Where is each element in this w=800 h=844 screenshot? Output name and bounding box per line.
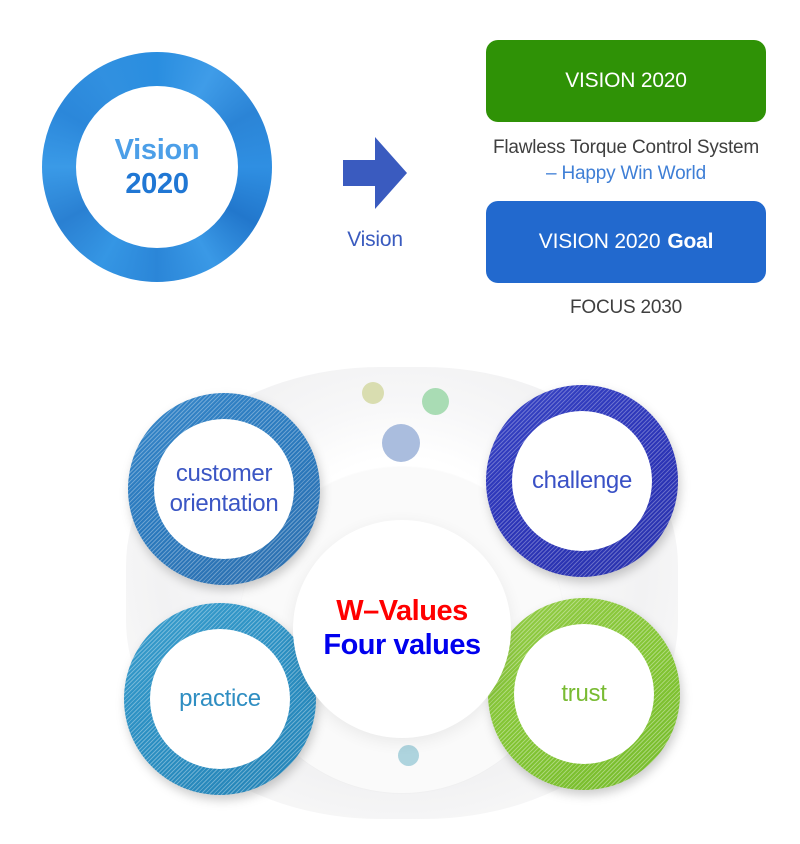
dot-khaki — [362, 382, 384, 404]
vision-2020-line2: 2020 — [125, 167, 188, 201]
value-ring-label-customer-orientation: customer orientation — [154, 419, 294, 559]
value-ring-challenge[interactable]: challenge — [486, 385, 678, 577]
w-values-center-circle: W–Values Four values — [293, 520, 511, 738]
w-values-section: customer orientation challenge practice … — [0, 345, 800, 844]
dot-periwinkle — [382, 424, 420, 462]
vision-detail-column: VISION 2020 Flawless Torque Control Syst… — [486, 40, 766, 319]
vision-2020-circle: Vision 2020 — [42, 52, 272, 282]
vision-arrow-block: Vision — [320, 134, 430, 252]
w-values-subtitle: Four values — [323, 630, 480, 662]
vision-2020-goal-badge-emphasis: Goal — [667, 230, 713, 254]
vision-2020-line1: Vision — [115, 133, 200, 167]
value-ring-label-trust: trust — [514, 624, 654, 764]
w-values-title: W–Values — [336, 596, 467, 628]
vision-2020-badge-label: VISION 2020 — [565, 69, 687, 93]
vision-overview-section: Vision 2020 Vision VISION 2020 Flawless … — [0, 0, 800, 345]
value-ring-customer-orientation[interactable]: customer orientation — [128, 393, 320, 585]
vision-2020-badge[interactable]: VISION 2020 — [486, 40, 766, 122]
value-label-line1: practice — [179, 684, 261, 714]
value-label-line1: challenge — [532, 466, 632, 496]
value-label-line1: customer — [176, 459, 272, 489]
vision-arrow-label: Vision — [320, 228, 430, 252]
vision-tagline-line1: Flawless Torque Control System — [493, 137, 759, 158]
vision-2020-goal-badge-label: VISION 2020 — [539, 230, 661, 254]
value-label-line1: trust — [561, 679, 606, 709]
focus-2030-label: FOCUS 2030 — [486, 297, 766, 319]
value-ring-trust[interactable]: trust — [488, 598, 680, 790]
value-ring-label-practice: practice — [150, 629, 290, 769]
vision-2020-goal-badge[interactable]: VISION 2020 Goal — [486, 201, 766, 283]
value-ring-label-challenge: challenge — [512, 411, 652, 551]
value-label-line2: orientation — [170, 489, 279, 519]
value-ring-practice[interactable]: practice — [124, 603, 316, 795]
vision-tagline: Flawless Torque Control System – Happy W… — [486, 135, 766, 187]
arrow-right-icon — [339, 134, 411, 212]
vision-2020-label: Vision 2020 — [76, 86, 238, 248]
dot-mint — [422, 388, 449, 415]
dot-lightblue — [398, 745, 419, 766]
vision-tagline-line2: – Happy Win World — [486, 161, 766, 187]
